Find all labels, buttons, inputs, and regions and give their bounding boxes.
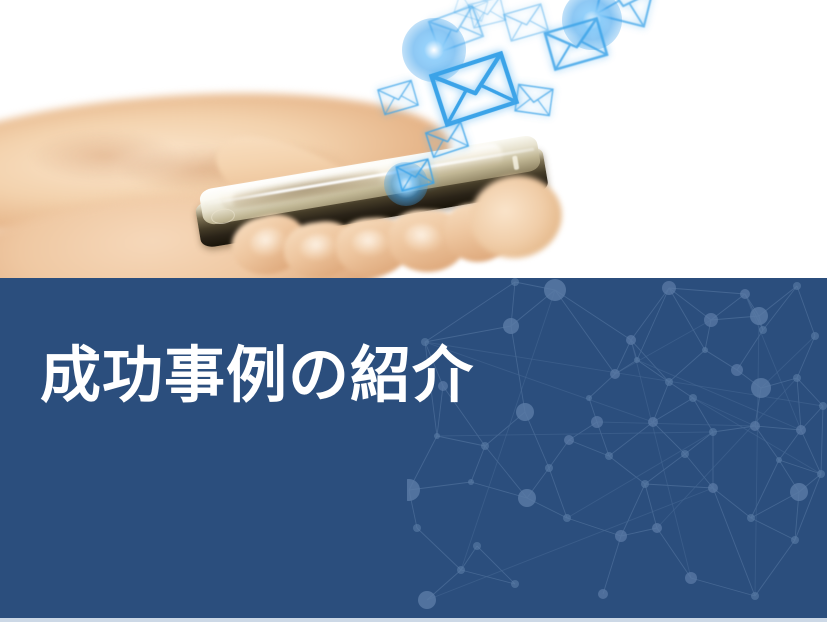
network-node-42	[615, 530, 627, 542]
network-node-14	[751, 378, 771, 398]
network-node-54	[586, 395, 592, 401]
network-node-19	[407, 479, 420, 501]
network-node-45	[511, 580, 519, 588]
network-node-4	[793, 282, 801, 290]
network-node-37	[563, 514, 571, 522]
network-node-56	[702, 347, 708, 353]
network-node-41	[473, 542, 481, 550]
network-node-50	[641, 480, 649, 488]
network-node-16	[793, 374, 801, 382]
network-node-34	[790, 483, 808, 501]
envelope-icon-7	[514, 84, 554, 117]
envelope-icon-4	[544, 17, 609, 71]
network-node-29	[434, 433, 440, 439]
network-node-3	[740, 289, 750, 299]
network-node-27	[796, 425, 806, 435]
network-node-30	[481, 442, 489, 450]
page-title: 成功事例の紹介	[40, 344, 474, 410]
network-node-55	[634, 357, 640, 363]
network-node-2	[662, 281, 676, 295]
network-node-1	[544, 279, 566, 301]
network-node-39	[747, 514, 755, 522]
network-node-40	[791, 536, 799, 544]
network-node-25	[709, 428, 717, 436]
network-node-31	[605, 452, 613, 460]
fingernail-3	[352, 230, 388, 256]
network-node-26	[750, 421, 760, 431]
title-band	[0, 278, 827, 618]
slide-canvas: 成功事例の紹介	[0, 0, 827, 622]
network-node-53	[776, 457, 782, 463]
envelope-icon-6	[377, 80, 419, 116]
network-node-18	[610, 369, 620, 379]
network-node-21	[689, 394, 697, 402]
network-node-12	[665, 378, 673, 386]
network-node-28	[819, 402, 827, 410]
network-node-47	[751, 592, 759, 600]
network-node-7	[704, 313, 718, 327]
bottom-accent-strip	[0, 618, 827, 622]
network-node-51	[545, 464, 553, 472]
network-node-5	[626, 335, 636, 345]
network-node-10	[811, 332, 819, 340]
network-node-13	[503, 318, 519, 334]
network-node-20	[591, 416, 603, 428]
network-node-49	[708, 483, 718, 493]
network-node-35	[518, 489, 536, 507]
network-node-23	[516, 403, 534, 421]
network-node-52	[468, 479, 474, 485]
network-node-46	[418, 591, 436, 609]
network-node-24	[648, 417, 658, 427]
network-node-22	[564, 435, 574, 445]
network-node-38	[652, 523, 662, 533]
network-node-44	[598, 589, 608, 599]
network-node-6	[511, 278, 519, 286]
network-node-32	[681, 450, 689, 458]
network-node-48	[457, 566, 465, 574]
network-constellation-decoration	[407, 278, 827, 618]
network-node-33	[817, 470, 825, 478]
network-node-8	[750, 307, 768, 325]
hand-holding-smartphone-photo	[0, 0, 827, 278]
network-node-15	[731, 364, 743, 376]
network-nodes	[407, 278, 827, 609]
envelope-icon-3	[503, 3, 549, 42]
hero-photo-region	[0, 0, 827, 278]
network-node-9	[759, 326, 767, 334]
network-node-43	[685, 572, 697, 584]
network-node-36	[413, 524, 421, 532]
